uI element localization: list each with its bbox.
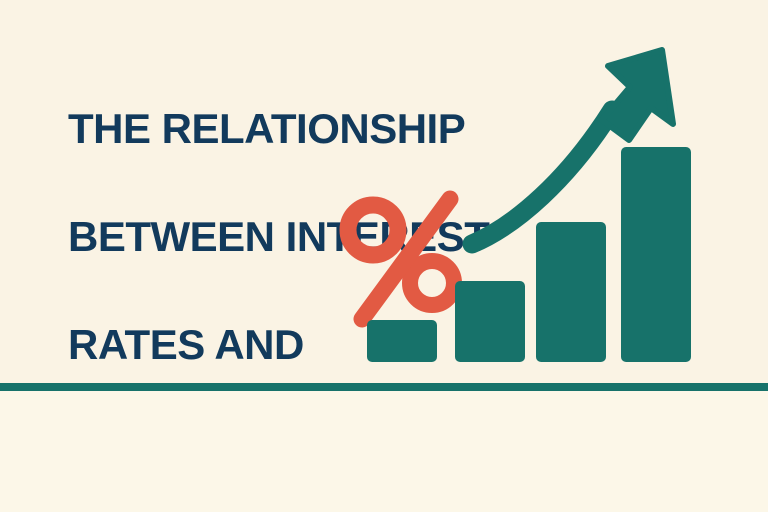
bar-2 (455, 281, 525, 362)
footer-band: VIVEKAM FINANCIAL SERVICES (0, 391, 768, 512)
bar-4 (621, 147, 691, 362)
percent-symbol-icon (348, 199, 454, 319)
poster: THE RELATIONSHIP BETWEEN INTEREST RATES … (0, 0, 768, 512)
bar-3 (536, 222, 606, 362)
bar-chart-illustration (340, 30, 740, 375)
divider (0, 383, 768, 391)
bar-1 (367, 320, 437, 362)
main-panel: THE RELATIONSHIP BETWEEN INTEREST RATES … (0, 0, 768, 383)
